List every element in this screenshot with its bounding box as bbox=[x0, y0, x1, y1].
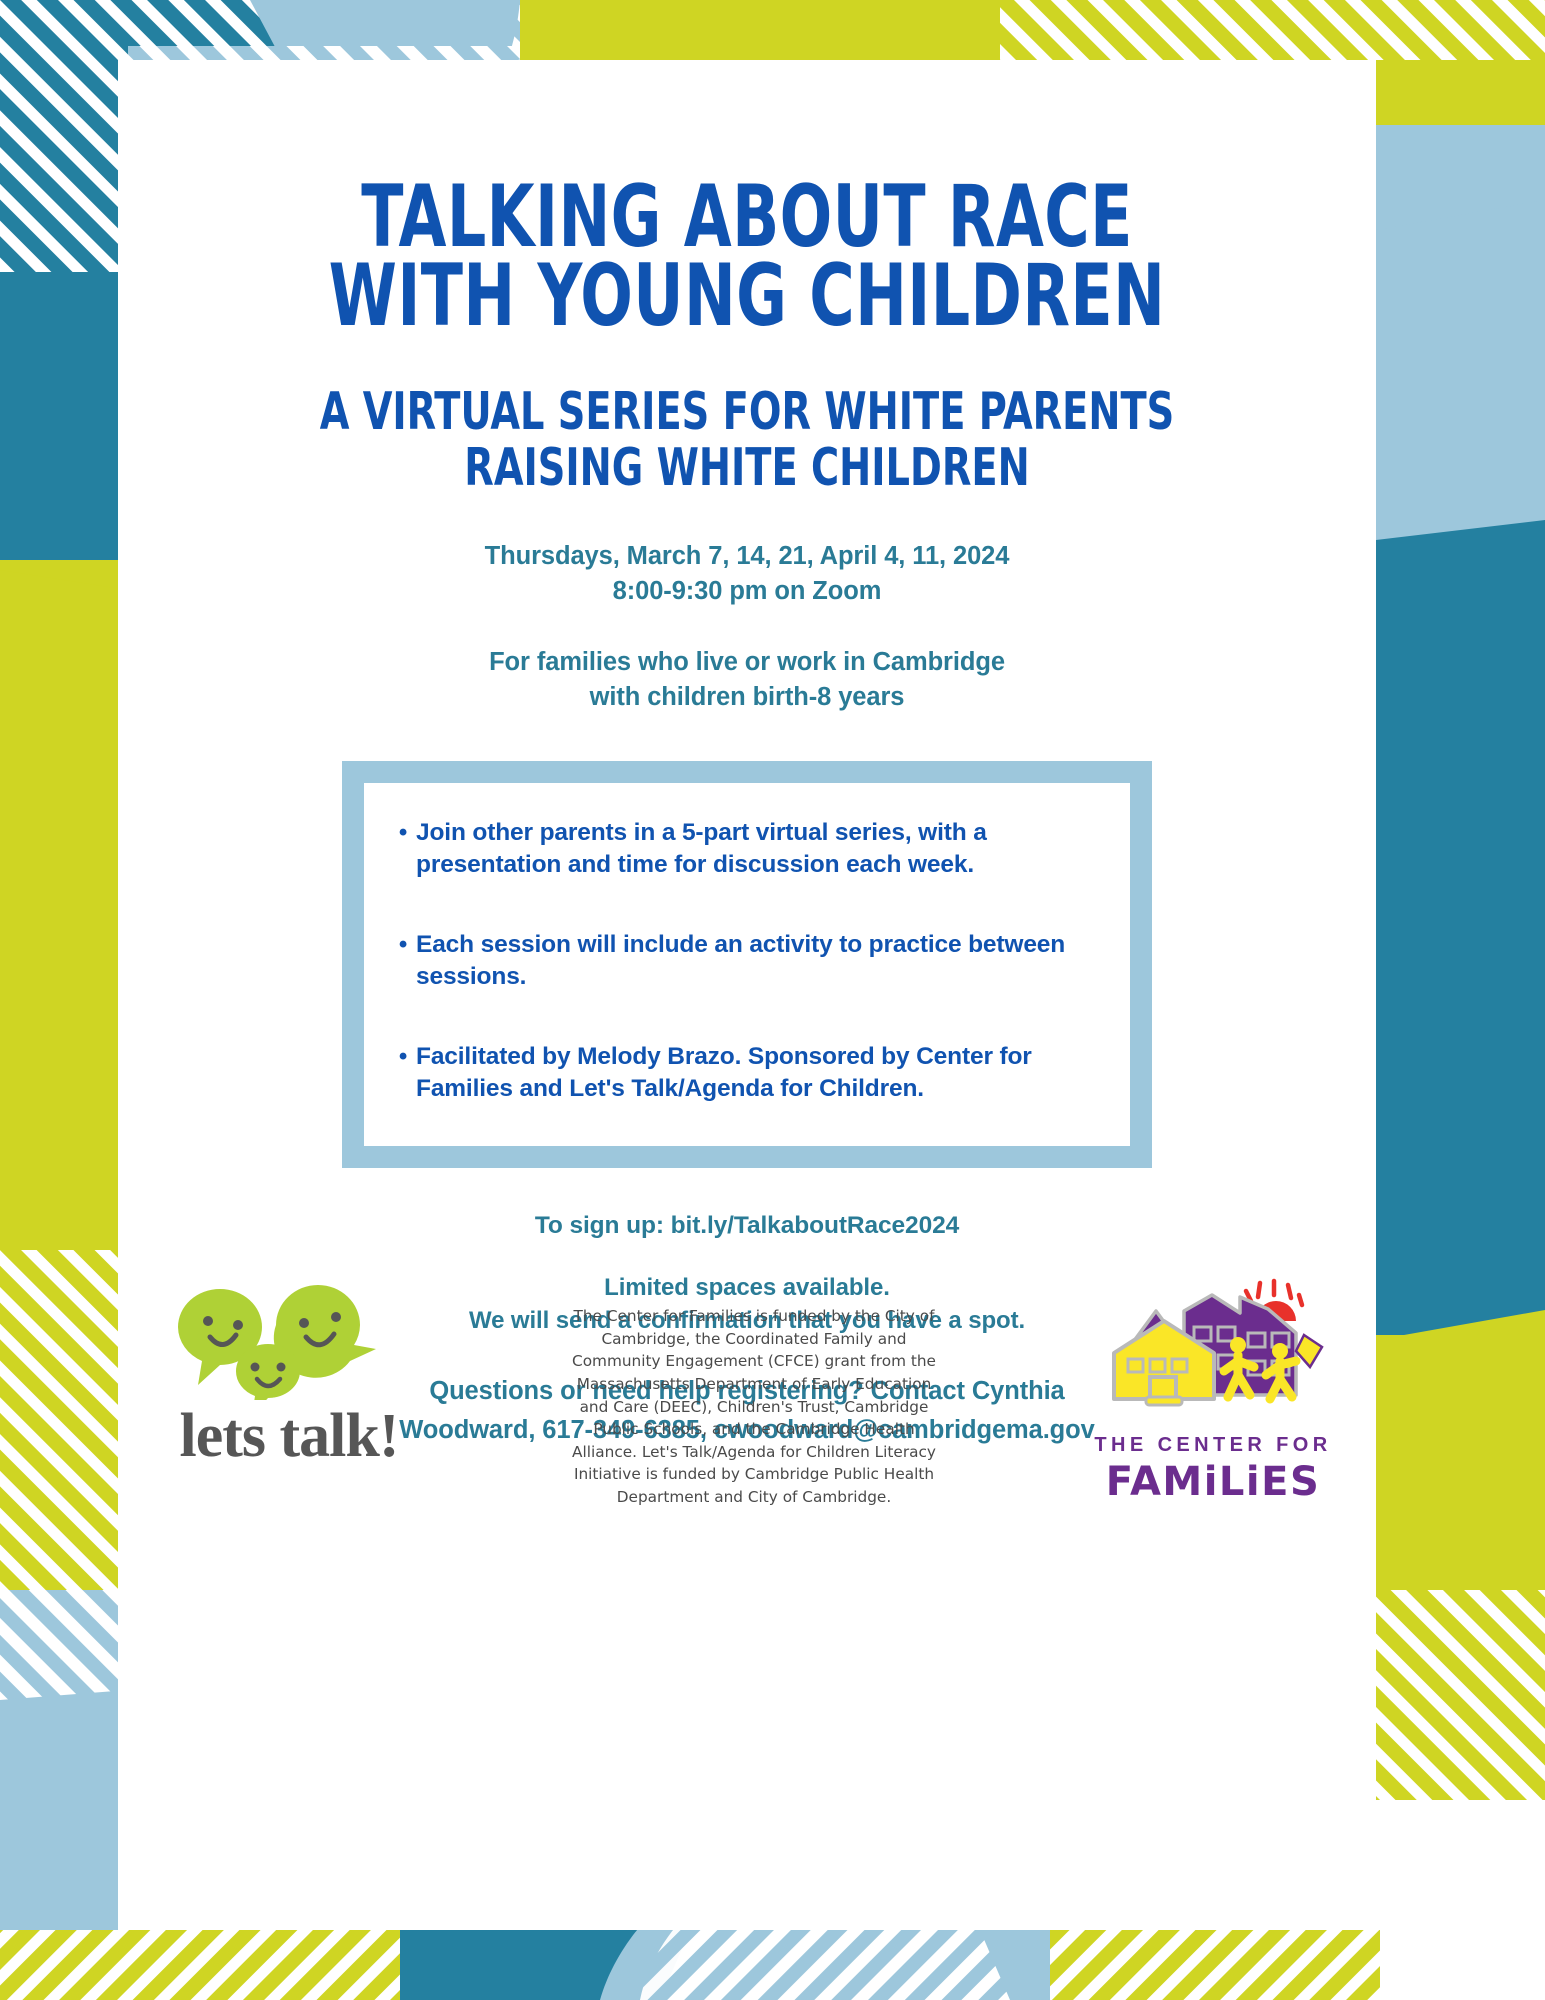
list-item-text: Each session will include an activity to… bbox=[416, 929, 1104, 993]
deco-right-edge bbox=[1376, 125, 1545, 1800]
details-box: • Join other parents in a 5-part virtual… bbox=[342, 761, 1152, 1168]
poster-root: TALKING ABOUT RACE WITH YOUNG CHILDREN A… bbox=[0, 0, 1545, 2000]
funding-disclaimer: The Center for Families is funded by the… bbox=[554, 1275, 954, 1509]
bullet-dot-icon: • bbox=[390, 929, 416, 960]
details-box-inner: • Join other parents in a 5-part virtual… bbox=[364, 783, 1130, 1146]
bullet-dot-icon: • bbox=[390, 1041, 416, 1072]
poster-content: TALKING ABOUT RACE WITH YOUNG CHILDREN A… bbox=[118, 60, 1376, 1930]
audience-note: For families who live or work in Cambrid… bbox=[118, 645, 1376, 715]
page-subtitle: A VIRTUAL SERIES FOR WHITE PARENTS RAISI… bbox=[231, 384, 1263, 496]
page-title: TALKING ABOUT RACE WITH YOUNG CHILDREN bbox=[244, 60, 1250, 336]
session-dates: Thursdays, March 7, 14, 21, April 4, 11,… bbox=[118, 539, 1376, 609]
deco-left-edge bbox=[0, 560, 128, 2000]
list-item: • Each session will include an activity … bbox=[390, 929, 1104, 993]
cff-logo-line2: FAMiLiES bbox=[1088, 1459, 1338, 1505]
bullet-dot-icon: • bbox=[390, 817, 416, 848]
list-item: • Facilitated by Melody Brazo. Sponsored… bbox=[390, 1041, 1104, 1105]
houses-and-family-icon bbox=[1098, 1275, 1328, 1425]
signup-link[interactable]: To sign up: bit.ly/TalkaboutRace2024 bbox=[118, 1212, 1376, 1240]
center-for-families-logo: THE CENTER FOR FAMiLiES bbox=[1088, 1275, 1338, 1505]
list-item: • Join other parents in a 5-part virtual… bbox=[390, 817, 1104, 881]
list-item-text: Join other parents in a 5-part virtual s… bbox=[416, 817, 1104, 881]
lets-talk-wordmark: lets talk! bbox=[158, 1401, 420, 1472]
list-item-text: Facilitated by Melody Brazo. Sponsored b… bbox=[416, 1041, 1104, 1105]
cff-logo-line1: THE CENTER FOR bbox=[1088, 1434, 1338, 1457]
lets-talk-logo: lets talk! bbox=[158, 1275, 420, 1472]
speech-bubbles-icon bbox=[158, 1275, 420, 1400]
footer: lets talk! The Center for Families is fu… bbox=[118, 1275, 1376, 1509]
